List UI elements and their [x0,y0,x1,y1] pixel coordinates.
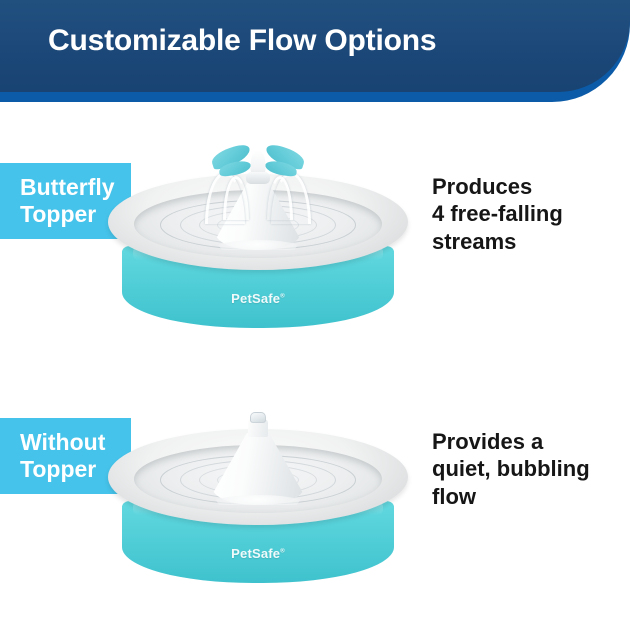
page-header: Customizable Flow Options [0,0,630,104]
petsafe-logo: PetSafe® [122,291,394,306]
infographic-page: Customizable Flow Options Butterfly Topp… [0,0,630,630]
description-line-1: Provides a [432,428,622,455]
description-without-topper: Provides a quiet, bubbling flow [432,428,622,510]
label-butterfly-topper: Butterfly Topper [20,174,115,228]
label-line-2: Topper [20,456,105,483]
label-line-1: Without [20,429,105,456]
section-butterfly-topper: Butterfly Topper PetSafe® [0,110,630,345]
section-without-topper: Without Topper PetSafe® Provides a [0,365,630,600]
product-fountain-butterfly: PetSafe® [108,128,408,328]
description-line-3: flow [432,483,622,510]
description-line-1: Produces [432,173,622,200]
description-butterfly-topper: Produces 4 free-falling streams [432,173,622,255]
butterfly-hub [246,172,270,184]
page-title: Customizable Flow Options [48,24,436,58]
butterfly-topper [203,146,313,190]
petsafe-logo: PetSafe® [122,546,394,561]
product-fountain-plain: PetSafe® [108,383,408,583]
fountain-nozzle [250,412,266,423]
description-line-3: streams [432,228,622,255]
label-line-2: Topper [20,201,115,228]
label-without-topper: Without Topper [20,429,105,483]
description-line-2: quiet, bubbling [432,455,622,482]
label-line-1: Butterfly [20,174,115,201]
description-line-2: 4 free-falling [432,200,622,227]
